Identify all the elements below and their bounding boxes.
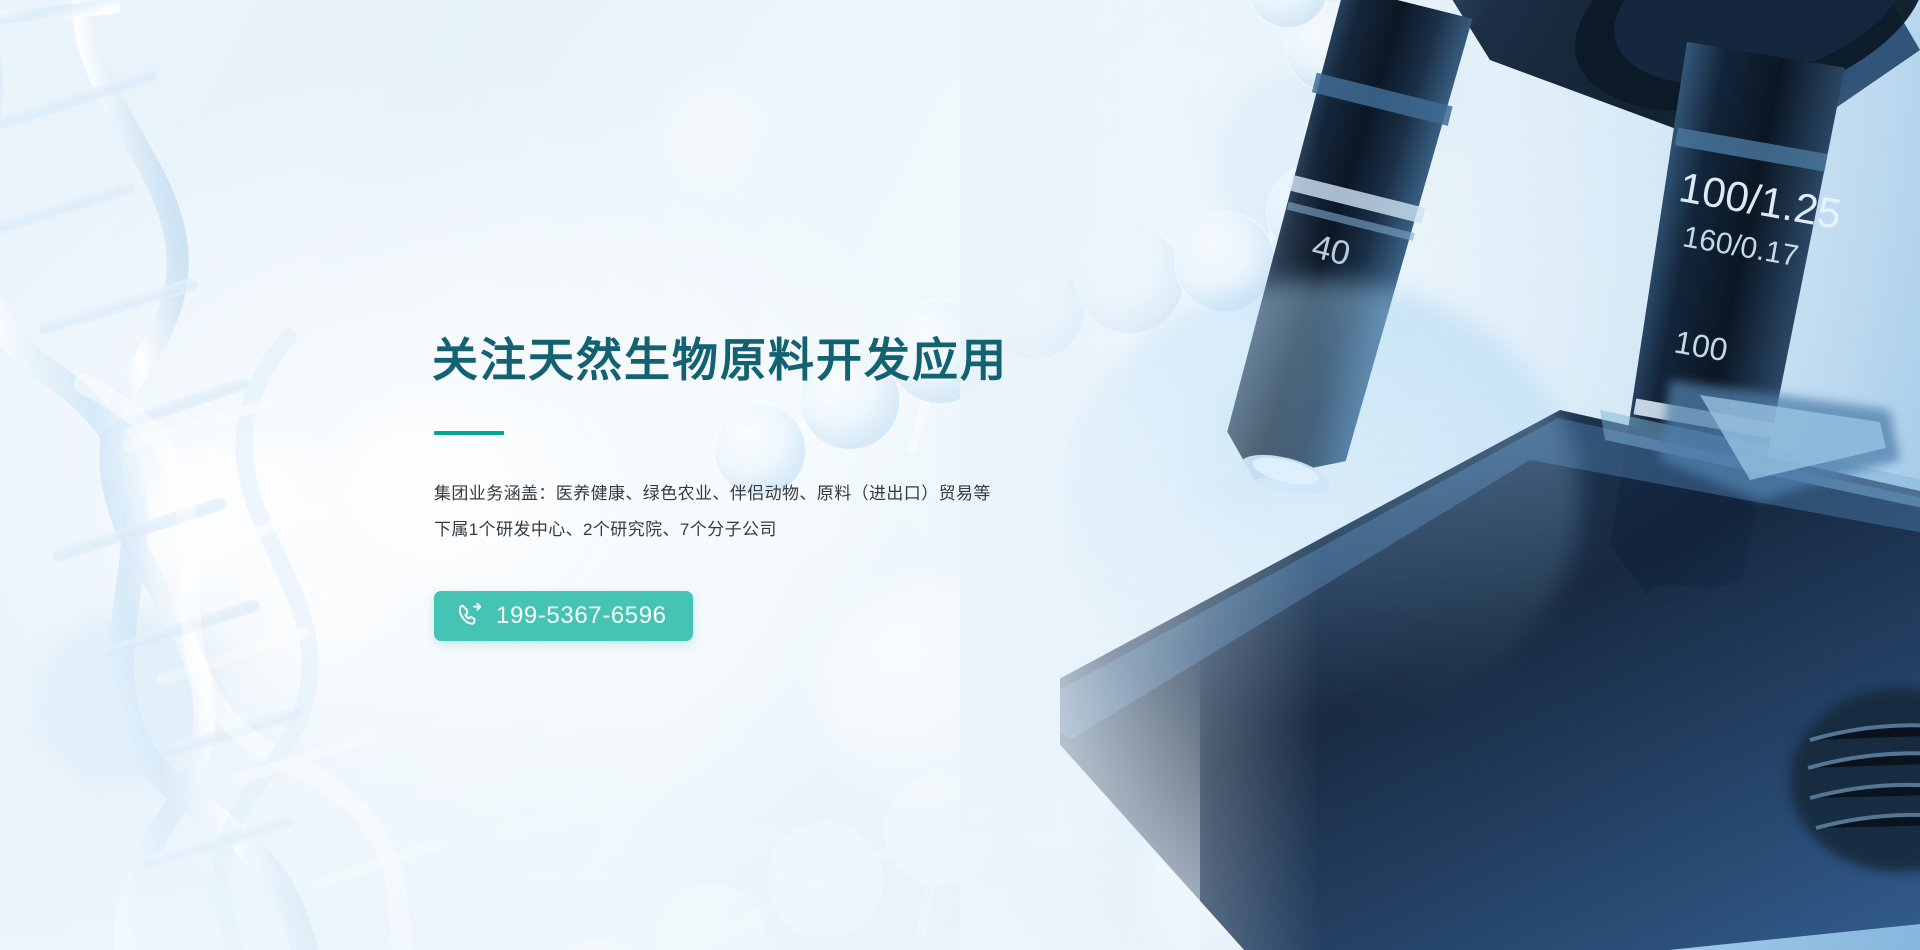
bokeh-light [1330, 30, 1470, 170]
bokeh-light [1195, 280, 1305, 390]
page-title: 关注天然生物原料开发应用 [432, 332, 1192, 390]
title-divider [434, 431, 504, 435]
microscope-label-100: 100 [1672, 324, 1731, 369]
bokeh-light [1250, 190, 1370, 310]
bokeh-light [660, 80, 780, 200]
bokeh-light [1140, 780, 1370, 950]
bokeh-light [250, 560, 400, 710]
microscope-label-tube: 160/0.17 [1680, 220, 1801, 273]
bottom-haze [0, 650, 1200, 950]
bokeh-light [1180, 380, 1330, 530]
bokeh-light [1190, 640, 1360, 810]
phone-number-label: 199-5367-6596 [496, 604, 667, 628]
bokeh-light [128, 430, 338, 640]
bokeh-light [40, 610, 230, 800]
hero-description-line-1: 集团业务涵盖：医养健康、绿色农业、伴侣动物、原料（进出口）贸易等 [434, 476, 1192, 512]
hero-description-line-2: 下属1个研发中心、2个研究院、7个分子公司 [434, 512, 1192, 548]
microscope-label-40: 40 [1308, 227, 1354, 273]
phone-forwarded-icon [456, 602, 483, 629]
microscope-label-aperture: 100/1.25 [1676, 163, 1845, 238]
hero-content: 关注天然生物原料开发应用 集团业务涵盖：医养健康、绿色农业、伴侣动物、原料（进出… [432, 332, 1192, 641]
hero-banner: 40 100/1.25 160/0.17 100 [0, 0, 1920, 950]
phone-cta-button[interactable]: 199-5367-6596 [434, 591, 693, 641]
bokeh-light [1000, 700, 1260, 950]
bokeh-light [1215, 70, 1405, 260]
hero-description: 集团业务涵盖：医养健康、绿色农业、伴侣动物、原料（进出口）贸易等 下属1个研发中… [434, 476, 1192, 548]
